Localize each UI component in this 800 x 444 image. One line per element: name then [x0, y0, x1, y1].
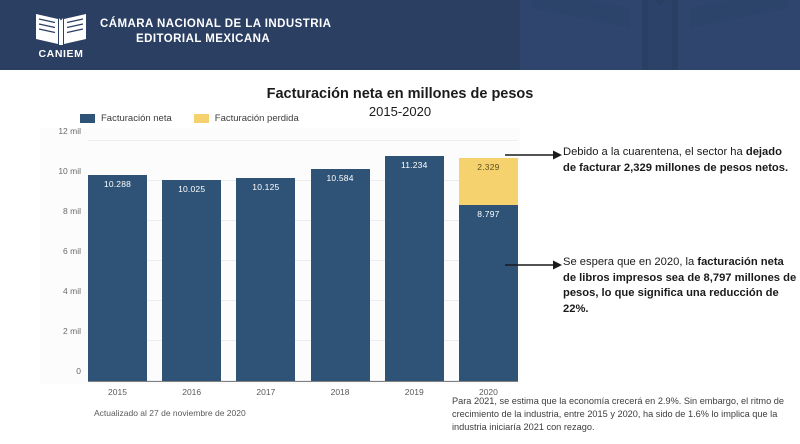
- chart-axes: 02 mil4 mil6 mil8 mil10 mil12 mil 10.288…: [88, 135, 518, 382]
- bar-value-label: 10.125: [236, 182, 295, 192]
- legend-label-net: Facturación neta: [101, 113, 172, 124]
- y-axis-tick-label: 6 mil: [63, 246, 81, 256]
- updated-date: Actualizado al 27 de noviembre de 2020: [94, 408, 246, 418]
- annotation-1-plain: Debido a la cuarentena, el sector ha: [563, 146, 746, 158]
- annotation-cuarentena: Debido a la cuarentena, el sector ha dej…: [505, 145, 797, 176]
- org-name-line1: CÁMARA NACIONAL DE LA INDUSTRIA: [100, 18, 331, 30]
- chart-plot-panel: 02 mil4 mil6 mil8 mil10 mil12 mil 10.288…: [40, 128, 520, 384]
- bar-segment-net[interactable]: 10.025: [162, 180, 221, 381]
- x-axis-line: [88, 381, 518, 383]
- bar-value-label: 8.797: [459, 209, 518, 219]
- y-axis-tick-label: 8 mil: [63, 206, 81, 216]
- y-axis-tick-label: 10 mil: [58, 166, 81, 176]
- legend-swatch-lost-icon: [194, 114, 209, 123]
- bar-segment-net[interactable]: 10.584: [311, 169, 370, 381]
- org-name-line2: EDITORIAL MEXICANA: [136, 32, 520, 47]
- logo-wordmark: CANIEM: [38, 48, 83, 60]
- bar-column-2019[interactable]: 11.234: [385, 141, 444, 381]
- annotation-1-text: Debido a la cuarentena, el sector ha dej…: [563, 145, 797, 176]
- annotation-2-plain: Se espera que en 2020, la: [563, 256, 697, 268]
- bar-value-label: 11.234: [385, 160, 444, 170]
- x-axis-tick-label: 2015: [88, 387, 147, 397]
- organization-name: CÁMARA NACIONAL DE LA INDUSTRIA EDITORIA…: [100, 17, 520, 47]
- bar-value-label: 10.025: [162, 184, 221, 194]
- chart-title: Facturación neta en millones de pesos: [180, 86, 620, 102]
- legend-label-lost: Facturación perdida: [215, 113, 299, 124]
- y-axis-tick-label: 2 mil: [63, 326, 81, 336]
- bar-value-label: 10.288: [88, 179, 147, 189]
- x-axis-tick-label: 2019: [385, 387, 444, 397]
- header-bar: CANIEM CÁMARA NACIONAL DE LA INDUSTRIA E…: [0, 0, 800, 70]
- legend-item-facturacion-neta[interactable]: Facturación neta: [80, 113, 172, 124]
- bar-column-2018[interactable]: 10.584: [311, 141, 370, 381]
- x-axis-tick-label: 2017: [236, 387, 295, 397]
- x-axis-tick-label: 2016: [162, 387, 221, 397]
- bar-column-2016[interactable]: 10.025: [162, 141, 221, 381]
- y-axis-tick-label: 0: [76, 366, 81, 376]
- bar-column-2015[interactable]: 10.288: [88, 141, 147, 381]
- arrow-right-icon: [505, 258, 563, 272]
- bar-value-label: 10.584: [311, 173, 370, 183]
- annotation-facturacion-2020: Se espera que en 2020, la facturación ne…: [505, 255, 797, 317]
- bar-segment-net[interactable]: 10.125: [236, 178, 295, 381]
- y-axis-tick-label: 12 mil: [58, 126, 81, 136]
- bar-segment-net[interactable]: 11.234: [385, 156, 444, 381]
- chart-legend: Facturación neta Facturación perdida: [80, 113, 299, 124]
- slide-root: CANIEM CÁMARA NACIONAL DE LA INDUSTRIA E…: [0, 0, 800, 444]
- legend-swatch-net-icon: [80, 114, 95, 123]
- arrow-right-icon: [505, 148, 563, 162]
- logo: CANIEM: [32, 8, 90, 64]
- bar-series-group: 10.28810.02510.12510.58411.2342.3298.797: [88, 141, 518, 381]
- bar-column-2017[interactable]: 10.125: [236, 141, 295, 381]
- x-axis-tick-label: 2018: [311, 387, 370, 397]
- header-watermark-book-icon: [510, 0, 800, 70]
- legend-item-facturacion-perdida[interactable]: Facturación perdida: [194, 113, 299, 124]
- annotation-2-text: Se espera que en 2020, la facturación ne…: [563, 255, 797, 317]
- y-axis-tick-label: 4 mil: [63, 286, 81, 296]
- open-book-icon: [34, 8, 88, 46]
- footnote-text: Para 2021, se estima que la economía cre…: [452, 395, 792, 434]
- bar-segment-net[interactable]: 10.288: [88, 175, 147, 381]
